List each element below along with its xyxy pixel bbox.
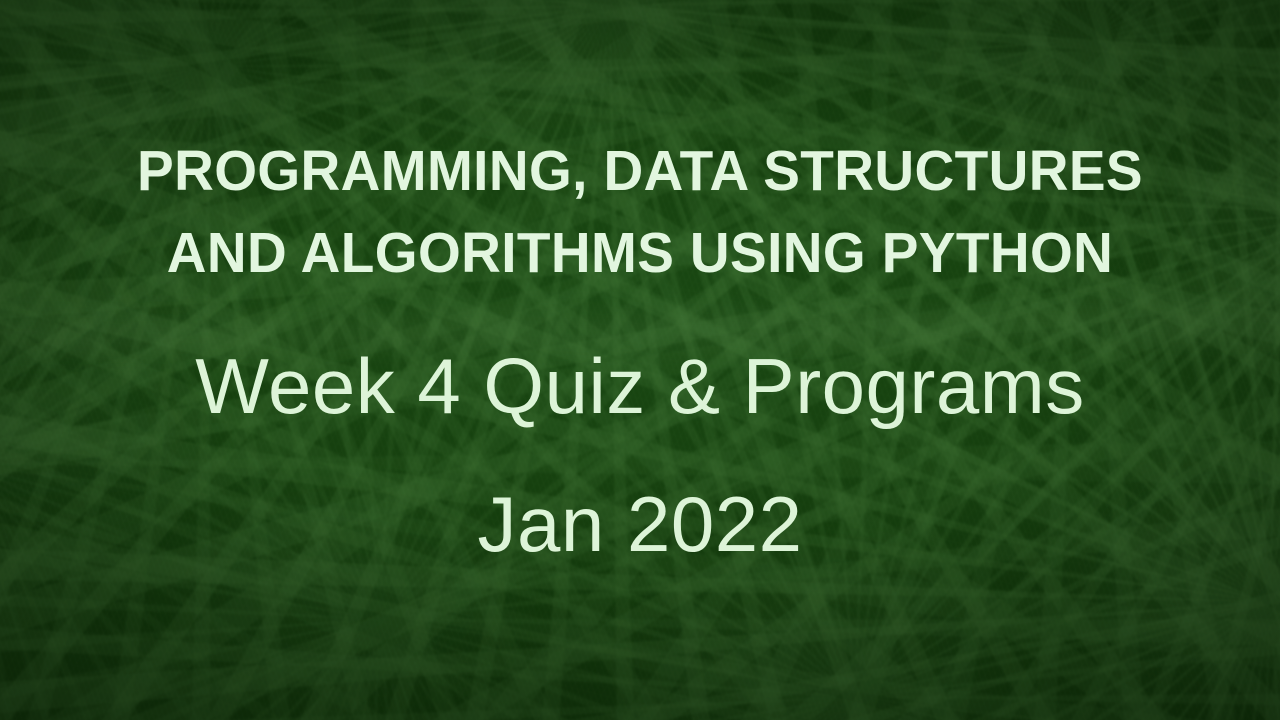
course-title-line-2: AND ALGORITHMS USING PYTHON xyxy=(22,212,1257,294)
slide-subtitle: Week 4 Quiz & Programs xyxy=(0,338,1280,434)
course-title: PROGRAMMING, DATA STRUCTURES AND ALGORIT… xyxy=(0,130,1280,294)
slide-content: PROGRAMMING, DATA STRUCTURES AND ALGORIT… xyxy=(0,0,1280,720)
course-title-line-1: PROGRAMMING, DATA STRUCTURES xyxy=(22,130,1257,212)
slide-date: Jan 2022 xyxy=(0,476,1280,572)
course-title-slide: PROGRAMMING, DATA STRUCTURES AND ALGORIT… xyxy=(0,0,1280,720)
